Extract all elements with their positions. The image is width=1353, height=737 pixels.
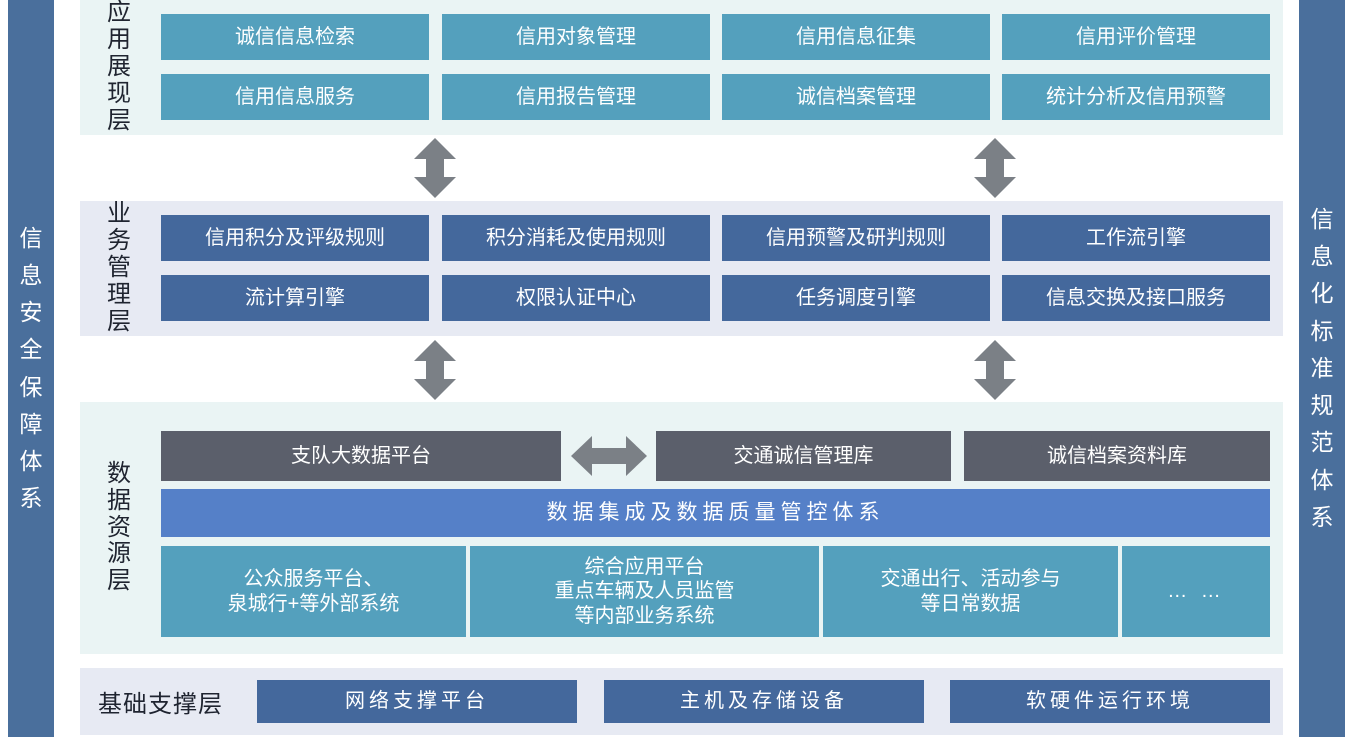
biz-box-point-consumption-rules[interactable]: 积分消耗及使用规则	[442, 215, 710, 261]
app-box-credit-object-mgmt[interactable]: 信用对象管理	[442, 14, 710, 60]
app-box-credit-evaluation-mgmt[interactable]: 信用评价管理	[1002, 14, 1270, 60]
architecture-diagram: 信息安全保障体系 信息化标准规范体系 应用展现层 诚信信息检索 信用对象管理 信…	[0, 0, 1353, 737]
biz-box-info-exchange-interface-service[interactable]: 信息交换及接口服务	[1002, 275, 1270, 321]
data-repo-big-data-platform[interactable]: 支队大数据平台	[161, 431, 561, 481]
infra-box-network-support-platform[interactable]: 网络支撑平台	[257, 680, 577, 723]
arrow-data-repo-link-icon	[570, 433, 648, 479]
app-box-credit-info-service[interactable]: 信用信息服务	[161, 74, 429, 120]
data-repo-integrity-archive-db[interactable]: 诚信档案资料库	[964, 431, 1270, 481]
data-integration-quality-band[interactable]: 数据集成及数据质量管控体系	[161, 489, 1270, 537]
left-rail-information-security: 信息安全保障体系	[8, 0, 54, 737]
app-box-statistics-and-credit-alert[interactable]: 统计分析及信用预警	[1002, 74, 1270, 120]
infra-box-software-hardware-env[interactable]: 软硬件运行环境	[950, 680, 1270, 723]
right-rail-standards-system: 信息化标准规范体系	[1299, 0, 1345, 737]
arrow-app-biz-right-icon	[973, 137, 1017, 199]
biz-box-task-scheduling-engine[interactable]: 任务调度引擎	[722, 275, 990, 321]
app-box-credit-report-mgmt[interactable]: 信用报告管理	[442, 74, 710, 120]
right-rail-label: 信息化标准规范体系	[1307, 201, 1337, 536]
data-source-travel-activity-daily-data[interactable]: 交通出行、活动参与 等日常数据	[823, 546, 1118, 637]
app-box-credit-info-search[interactable]: 诚信信息检索	[161, 14, 429, 60]
infra-box-host-and-storage[interactable]: 主机及存储设备	[604, 680, 924, 723]
biz-box-permission-auth-center[interactable]: 权限认证中心	[442, 275, 710, 321]
business-layer-caption: 业务管理层	[96, 201, 142, 336]
app-box-integrity-archive-mgmt[interactable]: 诚信档案管理	[722, 74, 990, 120]
data-layer-caption: 数据资源层	[96, 402, 142, 654]
biz-box-stream-compute-engine[interactable]: 流计算引擎	[161, 275, 429, 321]
data-source-public-service-platform[interactable]: 公众服务平台、 泉城行+等外部系统	[161, 546, 466, 637]
biz-box-credit-alert-judgement-rules[interactable]: 信用预警及研判规则	[722, 215, 990, 261]
arrow-biz-data-left-icon	[413, 339, 457, 401]
data-source-more-ellipsis[interactable]: … …	[1122, 546, 1270, 637]
data-source-integrated-application-platform[interactable]: 综合应用平台 重点车辆及人员监管 等内部业务系统	[470, 546, 819, 637]
app-box-credit-info-collection[interactable]: 信用信息征集	[722, 14, 990, 60]
data-repo-traffic-integrity-db[interactable]: 交通诚信管理库	[656, 431, 951, 481]
infrastructure-layer-caption: 基础支撑层	[98, 668, 223, 735]
application-layer-caption: 应用展现层	[96, 0, 142, 135]
biz-box-credit-score-rating-rules[interactable]: 信用积分及评级规则	[161, 215, 429, 261]
arrow-biz-data-right-icon	[973, 339, 1017, 401]
left-rail-label: 信息安全保障体系	[16, 220, 46, 518]
biz-box-workflow-engine[interactable]: 工作流引擎	[1002, 215, 1270, 261]
arrow-app-biz-left-icon	[413, 137, 457, 199]
